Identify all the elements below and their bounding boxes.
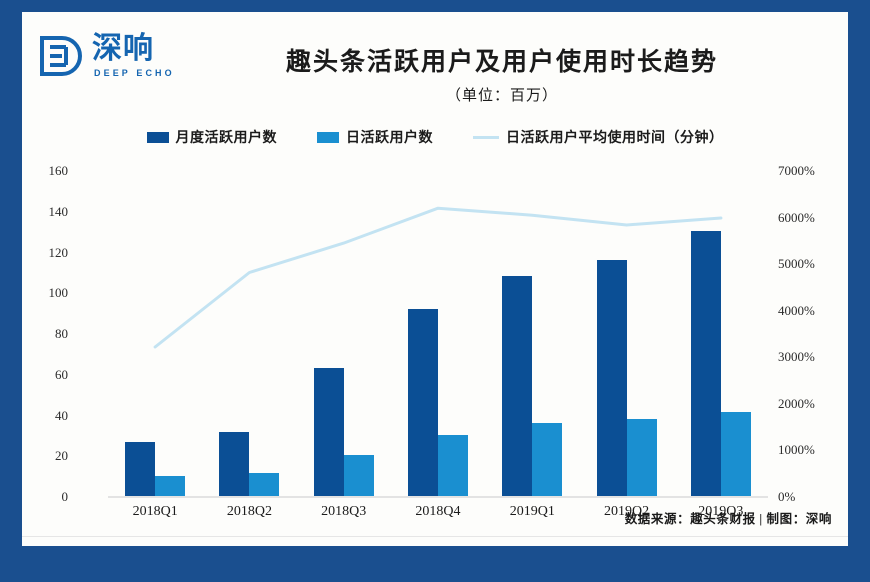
legend-swatch-mau [147, 132, 169, 143]
y-tick-left: 40 [22, 409, 68, 422]
legend-swatch-dau [317, 132, 339, 143]
y-tick-right: 6000% [778, 211, 846, 224]
legend-swatch-avg-time [473, 136, 499, 139]
plot-area: 020406080100120140160 0%1000%2000%3000%4… [22, 144, 848, 526]
y-tick-left: 140 [22, 205, 68, 218]
deep-echo-mark-icon [38, 34, 88, 78]
y-tick-left: 100 [22, 286, 68, 299]
avg-time-line [155, 208, 721, 347]
chart-title: 趣头条活跃用户及用户使用时长趋势 [202, 42, 802, 78]
y-tick-left: 80 [22, 327, 68, 340]
logo-chinese-text: 深响 [92, 32, 154, 66]
y-tick-right: 3000% [778, 350, 846, 363]
y-tick-left: 20 [22, 449, 68, 462]
logo-english-text: DEEP ECHO [94, 68, 175, 78]
y-tick-right: 0% [778, 490, 846, 503]
y-tick-left: 0 [22, 490, 68, 503]
chart-subtitle: （单位：百万） [202, 84, 802, 105]
y-tick-right: 2000% [778, 397, 846, 410]
y-tick-left: 120 [22, 246, 68, 259]
poster-frame: 深响 DEEP ECHO 趣头条活跃用户及用户使用时长趋势 （单位：百万） 月度… [0, 0, 870, 582]
y-tick-left: 160 [22, 164, 68, 177]
y-tick-right: 5000% [778, 257, 846, 270]
y-tick-left: 60 [22, 368, 68, 381]
footer-divider [22, 536, 848, 537]
x-axis-line [108, 496, 768, 498]
brand-logo: 深响 DEEP ECHO [38, 30, 178, 88]
line-series-container [108, 170, 768, 496]
chart-source-note: 数据来源：趣头条财报 | 制图：深响 [22, 508, 832, 527]
y-tick-right: 4000% [778, 304, 846, 317]
y-tick-right: 1000% [778, 443, 846, 456]
chart-card: 深响 DEEP ECHO 趣头条活跃用户及用户使用时长趋势 （单位：百万） 月度… [22, 12, 848, 546]
y-tick-right: 7000% [778, 164, 846, 177]
